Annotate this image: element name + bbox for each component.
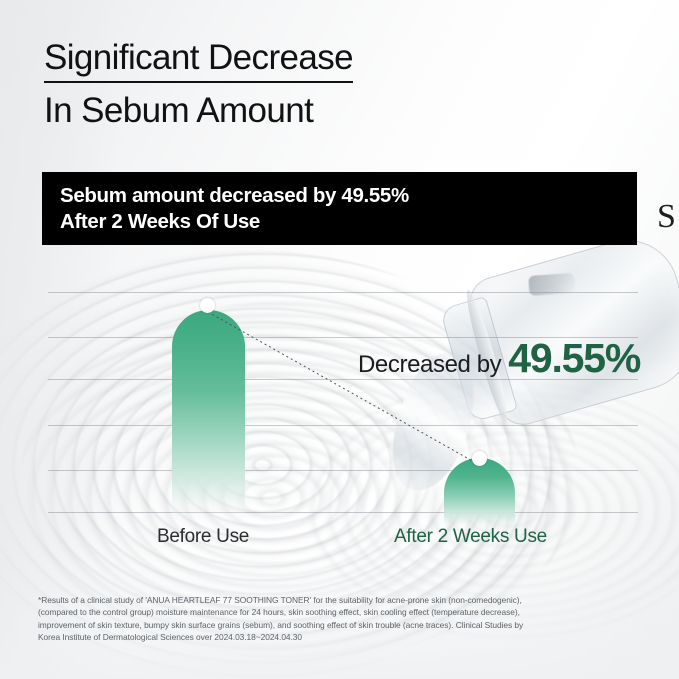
marker-before-use bbox=[200, 298, 215, 313]
footnote-line-4: Korea Institute of Dermatological Scienc… bbox=[38, 631, 638, 643]
banner-line-1: Sebum amount decreased by 49.55% bbox=[60, 183, 637, 209]
sebum-bar-chart: Decreased by 49.55% bbox=[48, 285, 638, 525]
sebum-decrease-infographic: Significant Decrease In Sebum Amount Seb… bbox=[0, 0, 679, 679]
decrease-callout: Decreased by 49.55% bbox=[358, 335, 640, 382]
footnote-disclaimer: *Results of a clinical study of 'ANUA HE… bbox=[38, 594, 638, 644]
axis-label-before-use: Before Use bbox=[157, 526, 249, 548]
callout-value: 49.55% bbox=[508, 335, 640, 382]
headline-line-2: In Sebum Amount bbox=[44, 87, 604, 134]
banner-percent-value: 49.55% bbox=[341, 184, 408, 207]
banner-line-2: After 2 Weeks Of Use bbox=[60, 209, 637, 235]
axis-label-after-two-weeks: After 2 Weeks Use bbox=[394, 526, 547, 548]
footnote-line-1: *Results of a clinical study of 'ANUA HE… bbox=[38, 594, 638, 606]
headline-line-1: Significant Decrease bbox=[44, 36, 353, 83]
callout-label: Decreased by bbox=[358, 351, 501, 379]
footnote-line-3: improvement of skin texture, bumpy skin … bbox=[38, 619, 638, 631]
footnote-line-2: (compared to the control group) moisture… bbox=[38, 606, 638, 618]
decrease-connector-line bbox=[48, 285, 638, 525]
cropped-edge-glyph: S bbox=[657, 198, 676, 236]
highlight-banner: Sebum amount decreased by 49.55% After 2… bbox=[42, 172, 637, 245]
marker-after-two-weeks bbox=[472, 451, 487, 466]
banner-line-1-prefix: Sebum amount decreased by bbox=[60, 184, 341, 207]
page-title: Significant Decrease In Sebum Amount bbox=[44, 36, 604, 134]
